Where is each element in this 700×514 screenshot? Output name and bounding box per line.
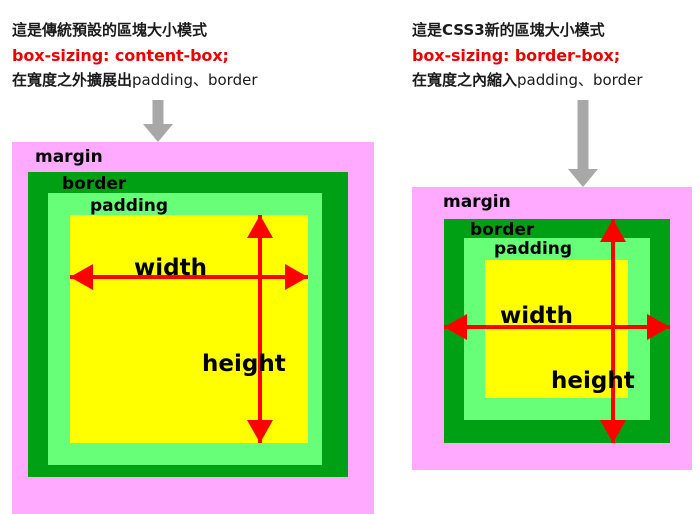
arrow-head [143,124,173,142]
border-label: border [62,176,126,193]
arrow-head-left [444,314,467,340]
arrow-shaft [578,100,589,170]
caption-line-code: box-sizing: border-box; [412,43,643,68]
arrow-line [258,215,262,443]
panel-content-box: 這是傳統預設的區塊大小模式 box-sizing: content-box; 在… [0,0,400,514]
arrow-head-left [70,264,93,290]
flow-down-arrow-icon [568,100,598,188]
arrow-head-right [285,264,308,290]
caption-border-box: 這是CSS3新的區塊大小模式 box-sizing: border-box; 在… [412,18,643,93]
caption-detail-bold: 在寬度之外擴展出 [12,71,132,89]
arrow-head-bottom [600,420,626,443]
height-measure-arrow [600,219,626,443]
caption-line-detail: 在寬度之外擴展出padding、border [12,68,258,93]
caption-detail-bold: 在寬度之內縮入 [412,71,517,89]
caption-line-code: box-sizing: content-box; [12,43,258,68]
arrow-head [568,169,598,187]
margin-label: margin [443,194,511,211]
width-label: width [500,305,573,328]
margin-label: margin [35,149,103,166]
width-label: width [134,257,207,280]
caption-content-box: 這是傳統預設的區塊大小模式 box-sizing: content-box; 在… [12,18,258,93]
caption-detail-light: padding、border [132,71,257,89]
padding-label: padding [494,241,572,258]
caption-detail-light: padding、border [517,71,642,89]
arrow-line [611,219,615,443]
caption-line-detail: 在寬度之內縮入padding、border [412,68,643,93]
height-label: height [551,370,635,393]
arrow-head-top [600,219,626,242]
height-measure-arrow [247,215,273,443]
border-label: border [470,222,534,239]
padding-label: padding [90,198,168,215]
arrow-head-bottom [247,420,273,443]
height-label: height [202,353,286,376]
arrow-head-top [247,215,273,238]
flow-down-arrow-icon [143,100,173,143]
caption-line-description: 這是傳統預設的區塊大小模式 [12,18,258,43]
caption-line-description: 這是CSS3新的區塊大小模式 [412,18,643,43]
arrow-head-right [647,314,670,340]
arrow-shaft [153,100,164,125]
